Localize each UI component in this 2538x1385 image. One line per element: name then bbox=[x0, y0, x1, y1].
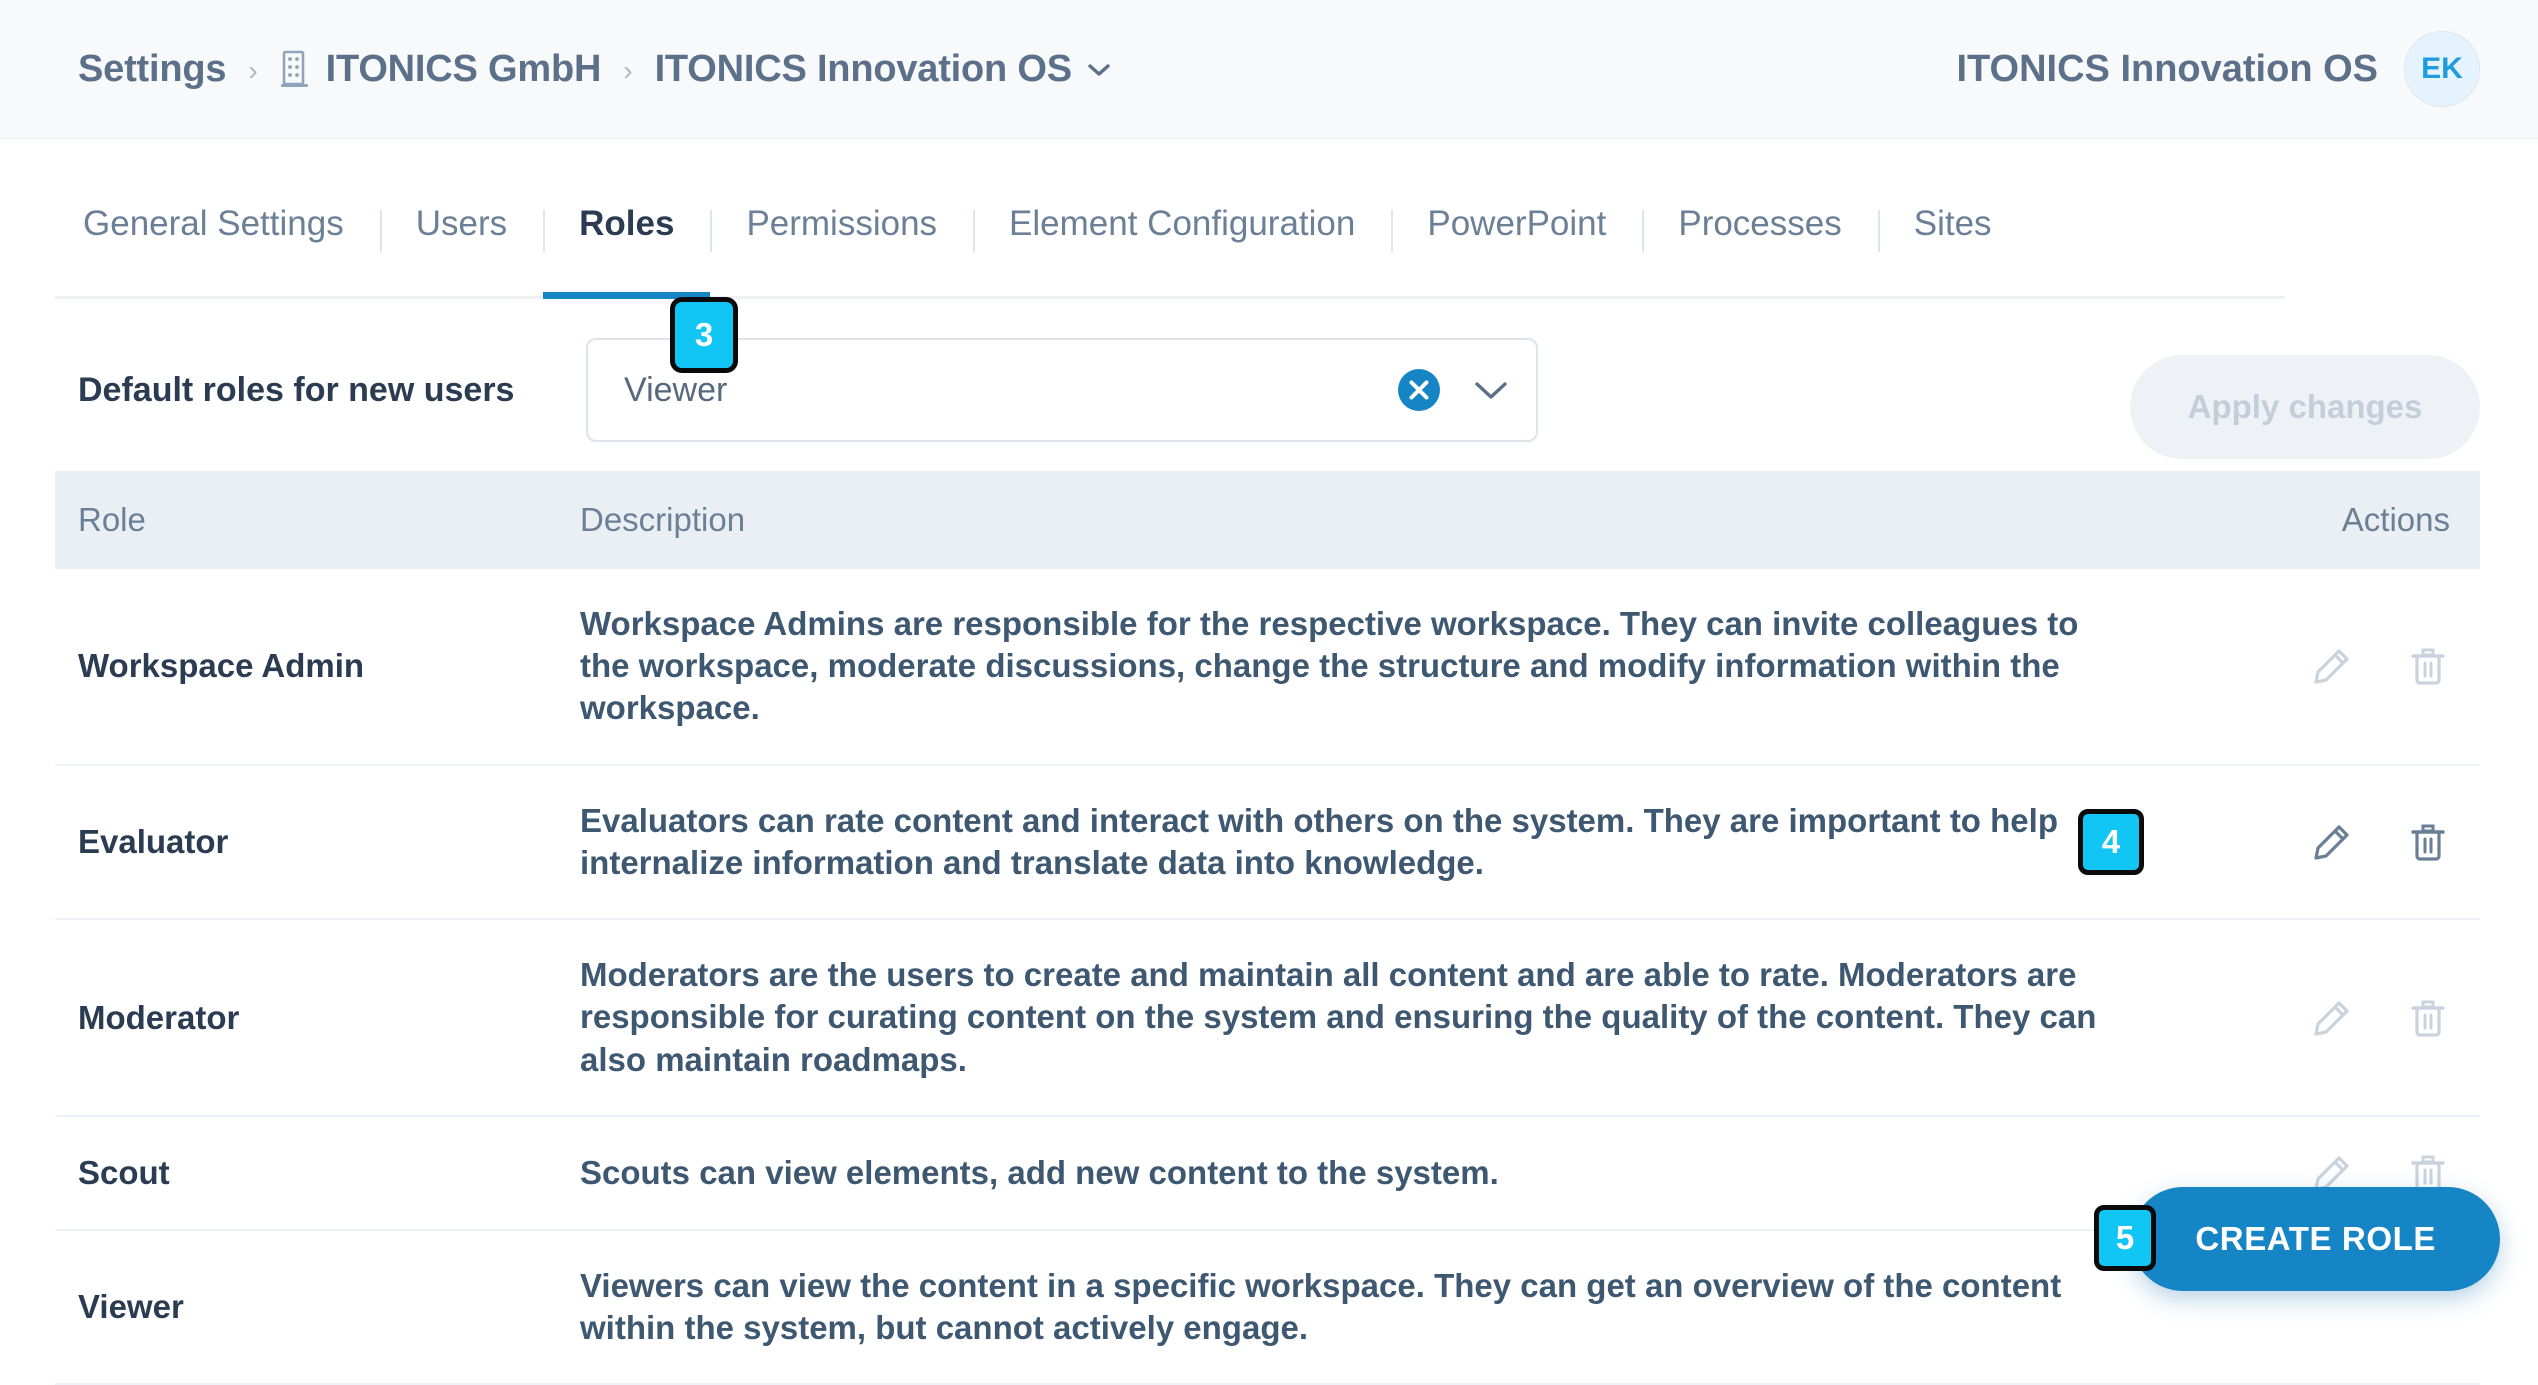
role-name: Viewer bbox=[78, 1288, 580, 1326]
row-actions bbox=[2190, 996, 2450, 1040]
breadcrumb-item-organization[interactable]: ITONICS GmbH bbox=[280, 48, 602, 91]
breadcrumb-item-workspace[interactable]: ITONICS Innovation OS bbox=[655, 48, 1110, 91]
column-header-description: Description bbox=[580, 501, 2190, 539]
trash-icon[interactable] bbox=[2406, 820, 2450, 864]
roles-table-header: Role Description Actions bbox=[55, 471, 2480, 569]
table-row: Evaluator Evaluators can rate content an… bbox=[55, 766, 2480, 920]
breadcrumb-label-organization: ITONICS GmbH bbox=[326, 48, 602, 91]
trash-icon[interactable] bbox=[2406, 996, 2450, 1040]
settings-tab-bar: General Settings Users Roles Permissions… bbox=[55, 139, 2285, 299]
avatar[interactable]: EK bbox=[2404, 31, 2480, 107]
row-actions: 4 bbox=[2190, 820, 2450, 864]
column-header-role: Role bbox=[78, 501, 580, 539]
role-description: Workspace Admins are responsible for the… bbox=[580, 603, 2190, 730]
column-header-actions: Actions bbox=[2190, 501, 2450, 539]
pencil-icon[interactable] bbox=[2310, 820, 2354, 864]
pencil-icon[interactable] bbox=[2310, 644, 2354, 688]
role-description: Viewers can view the content in a specif… bbox=[580, 1265, 2190, 1349]
role-name: Evaluator bbox=[78, 823, 580, 861]
tab-processes[interactable]: Processes bbox=[1642, 204, 1877, 296]
breadcrumb-separator: › bbox=[248, 57, 257, 85]
create-role-button[interactable]: CREATE ROLE bbox=[2131, 1187, 2500, 1291]
tabs-region: General Settings Users Roles Permissions… bbox=[0, 139, 2538, 299]
breadcrumb-item-settings[interactable]: Settings bbox=[78, 48, 226, 91]
role-name: Workspace Admin bbox=[78, 647, 580, 685]
role-description: Scouts can view elements, add new conten… bbox=[580, 1152, 2190, 1194]
table-row: Workspace Admin Workspace Admins are res… bbox=[55, 569, 2480, 766]
building-icon bbox=[280, 50, 310, 88]
tab-element-configuration[interactable]: Element Configuration bbox=[973, 204, 1391, 296]
role-name: Moderator bbox=[78, 999, 580, 1037]
tab-users[interactable]: Users bbox=[380, 204, 543, 296]
row-actions bbox=[2190, 644, 2450, 688]
breadcrumb-label-workspace: ITONICS Innovation OS bbox=[655, 48, 1072, 91]
top-header-bar: Settings › ITONICS GmbH › ITONICS Innova… bbox=[0, 0, 2538, 139]
tab-general-settings[interactable]: General Settings bbox=[55, 204, 380, 296]
default-roles-row: Default roles for new users Viewer Apply… bbox=[78, 299, 2480, 425]
breadcrumb-separator-2: › bbox=[623, 57, 632, 85]
role-name: Scout bbox=[78, 1154, 580, 1192]
tab-powerpoint[interactable]: PowerPoint bbox=[1391, 204, 1642, 296]
header-right-group: ITONICS Innovation OS EK bbox=[1956, 31, 2480, 107]
default-roles-label: Default roles for new users bbox=[78, 371, 586, 410]
step-badge-5: 5 bbox=[2094, 1205, 2156, 1271]
tab-permissions[interactable]: Permissions bbox=[710, 204, 973, 296]
tab-roles[interactable]: Roles bbox=[543, 204, 710, 296]
role-description: Moderators are the users to create and m… bbox=[580, 954, 2190, 1081]
clear-circle-icon[interactable] bbox=[1398, 369, 1440, 411]
apply-changes-button[interactable]: Apply changes bbox=[2130, 355, 2480, 459]
pencil-icon[interactable] bbox=[2310, 996, 2354, 1040]
breadcrumb: Settings › ITONICS GmbH › ITONICS Innova… bbox=[78, 48, 1110, 91]
chevron-down-icon[interactable] bbox=[1474, 380, 1508, 400]
tab-sites[interactable]: Sites bbox=[1878, 204, 2028, 296]
trash-icon[interactable] bbox=[2406, 644, 2450, 688]
current-workspace-label: ITONICS Innovation OS bbox=[1956, 48, 2378, 91]
chevron-down-icon bbox=[1088, 63, 1110, 76]
table-row: Moderator Moderators are the users to cr… bbox=[55, 920, 2480, 1117]
step-badge-3: 3 bbox=[670, 297, 738, 373]
step-badge-4: 4 bbox=[2078, 809, 2144, 875]
role-description: Evaluators can rate content and interact… bbox=[580, 800, 2190, 884]
default-roles-selected-value: Viewer bbox=[624, 371, 1398, 410]
